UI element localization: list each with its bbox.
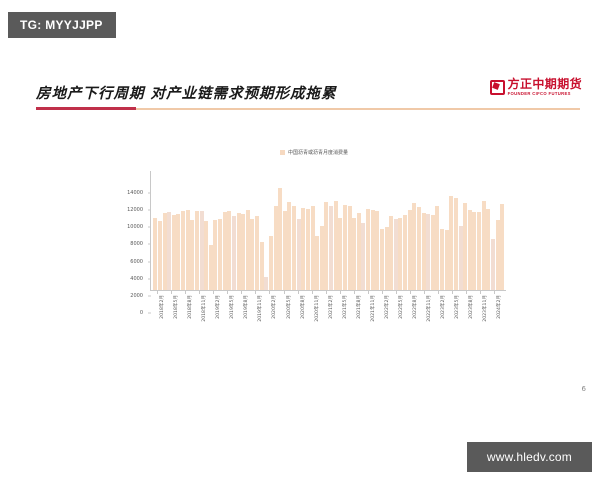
legend-swatch-icon — [280, 150, 285, 155]
bar — [167, 212, 171, 290]
bar — [315, 236, 319, 290]
bar — [500, 204, 504, 290]
x-axis-tick-label: 2020年8月 — [300, 295, 306, 319]
bar — [477, 212, 481, 290]
bar — [190, 220, 194, 290]
telegram-watermark-tag: TG: MYYJJPP — [8, 12, 116, 38]
bar — [227, 211, 231, 290]
bar — [292, 206, 296, 290]
bar — [431, 215, 435, 290]
x-axis-tick-mark — [213, 291, 214, 294]
x-axis-tick-label: 2022年11月 — [426, 295, 432, 322]
x-axis-tick-label: 2022年2月 — [384, 295, 390, 319]
legend-label: 中国沥青或沥青月度消费量 — [288, 149, 348, 156]
y-axis: 02000400060008000100001200014000 — [108, 167, 146, 295]
x-axis-tick-mark — [312, 291, 313, 294]
logo-diamond-icon — [490, 80, 505, 95]
bar — [361, 223, 365, 290]
bar — [459, 226, 463, 290]
bar — [237, 213, 241, 290]
y-axis-tick-label: 10000 — [127, 224, 143, 230]
bar — [408, 210, 412, 290]
bar — [172, 215, 176, 290]
bar — [153, 218, 157, 290]
bar — [306, 209, 310, 290]
bar — [311, 206, 315, 290]
bar — [496, 220, 500, 290]
bar — [255, 216, 259, 290]
logo-name-cn: 方正中期期货 — [508, 78, 582, 90]
x-axis-tick-label: 2022年5月 — [398, 295, 404, 319]
bar — [435, 206, 439, 290]
x-axis-tick-mark — [438, 291, 439, 294]
bar — [371, 210, 375, 290]
bar — [176, 214, 180, 290]
y-axis-tick-label: 8000 — [130, 241, 143, 247]
x-axis-tick-label: 2021年11月 — [370, 295, 376, 322]
bar — [223, 212, 227, 290]
x-axis-tick-label: 2019年2月 — [215, 295, 221, 319]
x-axis-tick-label: 2020年5月 — [286, 295, 292, 319]
bar — [218, 219, 222, 290]
bar — [260, 242, 264, 290]
page-title: 房地产下行周期 对产业链需求预期形成拖累 — [36, 82, 337, 103]
bar — [394, 219, 398, 290]
bar — [269, 236, 273, 290]
x-axis-tick-mark — [480, 291, 481, 294]
bar — [297, 219, 301, 290]
x-axis-tick-mark — [284, 291, 285, 294]
x-axis-tick-mark — [326, 291, 327, 294]
page-number: 6 — [582, 385, 586, 393]
bar — [412, 203, 416, 290]
bar — [158, 221, 162, 290]
logo-name-en: FOUNDER CIFCO FUTURES — [508, 92, 582, 96]
bar — [213, 220, 217, 290]
x-axis-tick-label: 2021年8月 — [356, 295, 362, 319]
x-axis-tick-mark — [241, 291, 242, 294]
x-axis-tick-mark — [255, 291, 256, 294]
bar — [398, 218, 402, 290]
bar — [426, 214, 430, 290]
x-axis: 2018年2月2018年5月2018年8月2018年11月2019年2月2019… — [150, 293, 506, 335]
bar — [329, 206, 333, 290]
bar — [334, 201, 338, 290]
company-logo: 方正中期期货 FOUNDER CIFCO FUTURES — [490, 78, 582, 96]
x-axis-tick-mark — [368, 291, 369, 294]
x-axis-tick-label: 2023年2月 — [440, 295, 446, 319]
x-axis-tick-label: 2021年2月 — [328, 295, 334, 319]
bar — [186, 210, 190, 290]
bar-series — [151, 171, 506, 290]
bar-chart: 中国沥青或沥青月度消费量 020004000600080001000012000… — [108, 145, 520, 325]
bar — [200, 211, 204, 290]
x-axis-tick-label: 2022年8月 — [412, 295, 418, 319]
bar — [482, 201, 486, 290]
bar — [241, 214, 245, 290]
x-axis-tick-mark — [424, 291, 425, 294]
y-axis-tick-label: 6000 — [130, 259, 143, 265]
x-axis-tick-mark — [269, 291, 270, 294]
x-axis-tick-mark — [494, 291, 495, 294]
slide-canvas: TG: MYYJJPP 房地产下行周期 对产业链需求预期形成拖累 方正中期期货 … — [0, 0, 600, 480]
bar — [278, 188, 282, 290]
bar — [385, 227, 389, 290]
x-axis-tick-mark — [199, 291, 200, 294]
bar — [380, 229, 384, 290]
x-axis-tick-mark — [410, 291, 411, 294]
x-axis-tick-label: 2023年5月 — [454, 295, 460, 319]
y-axis-tick-label: 14000 — [127, 190, 143, 196]
bar — [250, 219, 254, 290]
y-axis-tick-label: 2000 — [130, 293, 143, 299]
x-axis-tick-label: 2018年11月 — [201, 295, 207, 322]
bar — [348, 206, 352, 290]
bar — [491, 239, 495, 290]
bar — [463, 203, 467, 290]
bar — [454, 198, 458, 290]
bar — [338, 218, 342, 290]
x-axis-tick-label: 2020年2月 — [271, 295, 277, 319]
y-axis-tick-label: 0 — [140, 310, 143, 316]
x-axis-tick-mark — [354, 291, 355, 294]
x-axis-tick-mark — [298, 291, 299, 294]
x-axis-tick-label: 2024年2月 — [496, 295, 502, 319]
bar — [343, 205, 347, 290]
bar — [320, 226, 324, 290]
bar — [324, 202, 328, 290]
bar — [375, 211, 379, 290]
x-axis-tick-label: 2018年5月 — [173, 295, 179, 319]
bar — [287, 202, 291, 290]
x-axis-tick-label: 2019年11月 — [257, 295, 263, 322]
plot-area — [150, 171, 506, 291]
x-axis-tick-label: 2021年5月 — [342, 295, 348, 319]
bar — [274, 206, 278, 290]
bar — [366, 209, 370, 290]
x-axis-tick-label: 2023年11月 — [482, 295, 488, 322]
x-axis-tick-mark — [396, 291, 397, 294]
bar — [486, 209, 490, 290]
site-url-watermark: www.hledv.com — [467, 442, 592, 472]
bar — [352, 218, 356, 290]
y-axis-tick-label: 12000 — [127, 207, 143, 213]
bar — [389, 216, 393, 290]
bar — [232, 216, 236, 290]
x-axis-tick-mark — [452, 291, 453, 294]
bar — [209, 245, 213, 290]
x-axis-tick-mark — [185, 291, 186, 294]
x-axis-tick-label: 2018年8月 — [187, 295, 193, 319]
bar — [204, 221, 208, 290]
x-axis-tick-label: 2023年8月 — [468, 295, 474, 319]
chart-legend: 中国沥青或沥青月度消费量 — [108, 149, 520, 156]
x-axis-tick-mark — [466, 291, 467, 294]
x-axis-tick-mark — [340, 291, 341, 294]
bar — [449, 196, 453, 290]
x-axis-tick-mark — [157, 291, 158, 294]
bar — [246, 210, 250, 290]
bar — [357, 213, 361, 290]
x-axis-tick-label: 2019年8月 — [243, 295, 249, 319]
title-accent-underline — [36, 107, 136, 110]
y-axis-tick-label: 4000 — [130, 276, 143, 282]
bar — [468, 210, 472, 290]
bar — [283, 211, 287, 290]
bar — [195, 211, 199, 290]
bar — [181, 211, 185, 290]
bar — [403, 215, 407, 290]
x-axis-tick-label: 2020年11月 — [314, 295, 320, 322]
bar — [472, 212, 476, 290]
bar — [264, 277, 268, 290]
x-axis-tick-mark — [382, 291, 383, 294]
x-axis-tick-label: 2019年5月 — [229, 295, 235, 319]
bar — [445, 230, 449, 290]
bar — [301, 208, 305, 290]
bar — [417, 207, 421, 290]
bar — [440, 229, 444, 290]
bar — [422, 213, 426, 290]
x-axis-tick-mark — [171, 291, 172, 294]
bar — [163, 213, 167, 290]
x-axis-tick-label: 2018年2月 — [159, 295, 165, 319]
x-axis-tick-mark — [227, 291, 228, 294]
